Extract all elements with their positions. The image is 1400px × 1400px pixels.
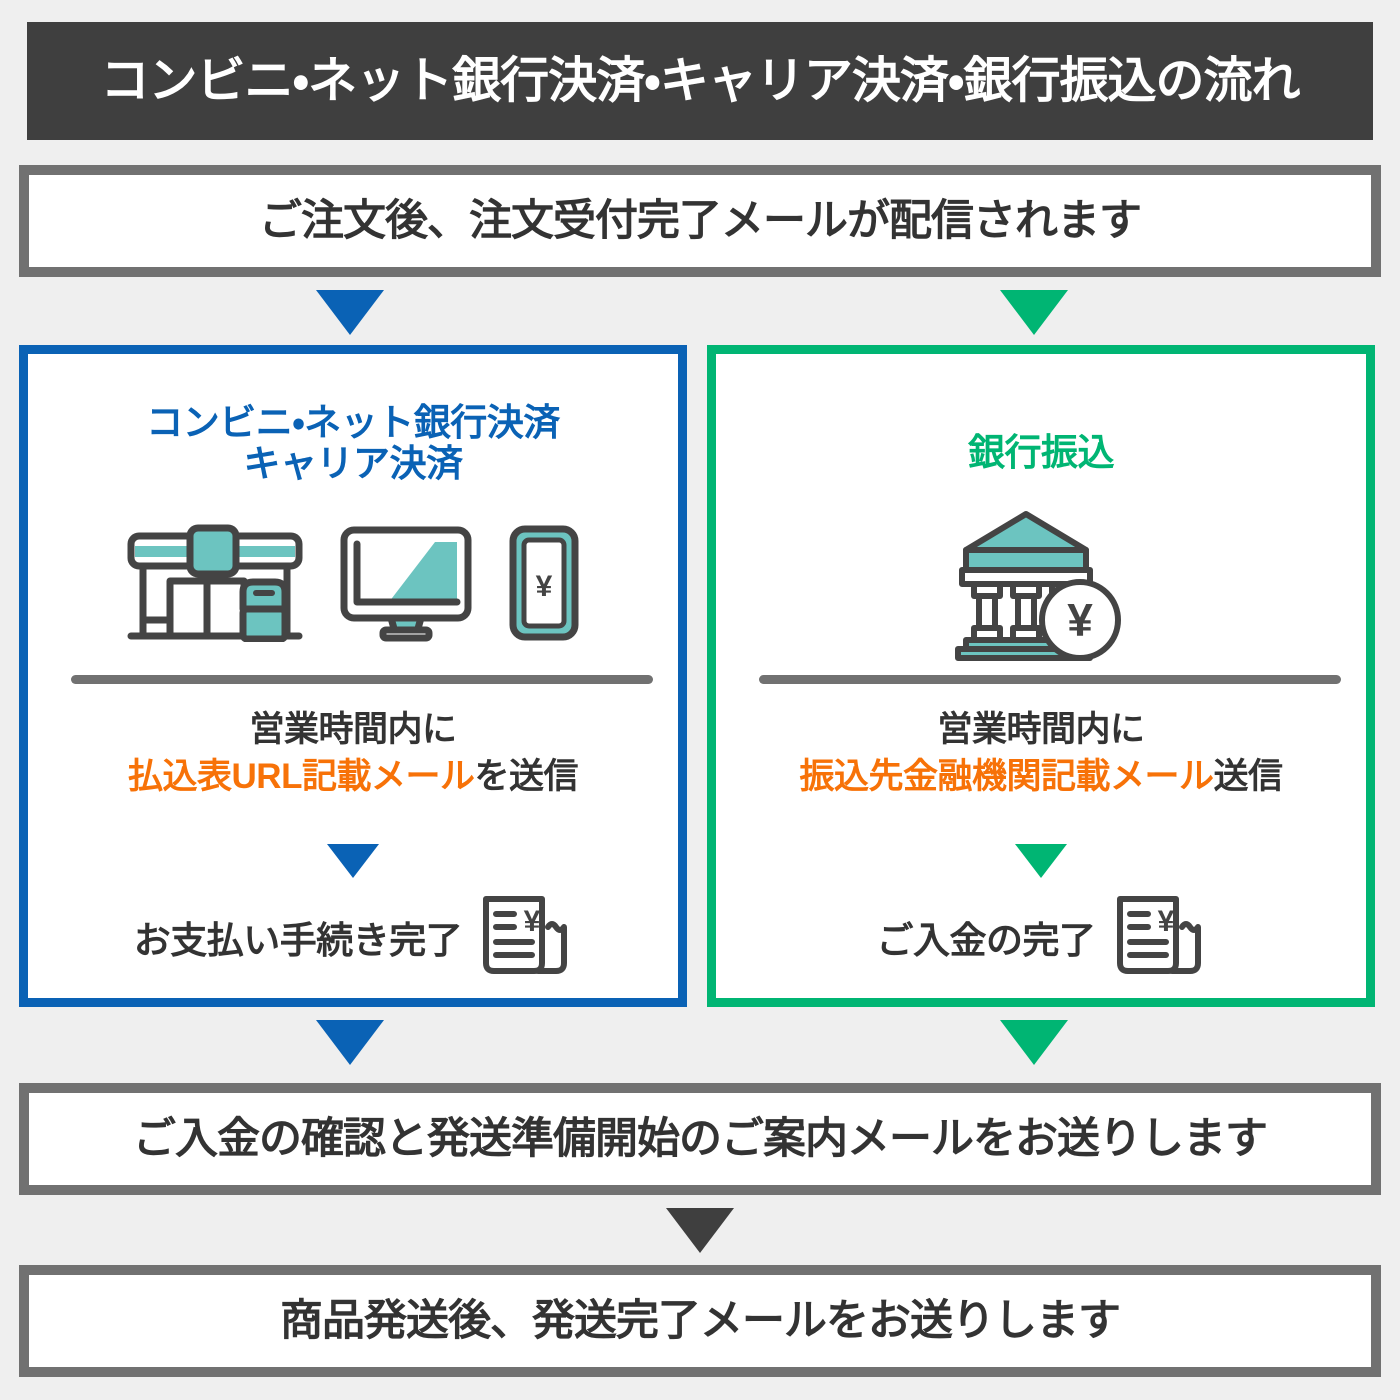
panel-konbini-icon-row: ¥ bbox=[28, 524, 678, 642]
panel-furikomi-title: 銀行振込 bbox=[716, 432, 1366, 473]
panel-konbini-title-line2: キャリア決済 bbox=[244, 443, 463, 484]
down-arrow-icon-to-furikomi bbox=[1000, 290, 1068, 335]
panel-furikomi-caption-highlight: 振込先金融機関記載メール bbox=[799, 757, 1213, 796]
panel-konbini-title: コンビニ・ネット銀行決済 キャリア決済 bbox=[28, 402, 678, 485]
step-box-shipped: 商品発送後、発送完了メールをお送りします bbox=[19, 1265, 1381, 1377]
down-arrow-icon-from-konbini bbox=[316, 1020, 384, 1065]
convenience-store-icon bbox=[125, 524, 305, 642]
bank-yen-icon: ¥ bbox=[952, 506, 1130, 662]
payment-flow-diagram: コンビニ・ネット銀行決済・キャリア決済・銀行振込の流れ ご注文後、注文受付完了メ… bbox=[0, 0, 1400, 1400]
panel-furikomi-caption: 営業時間内に 振込先金融機関記載メール送信 bbox=[716, 706, 1366, 801]
step-shipped-label: 商品発送後、発送完了メールをお送りします bbox=[280, 1300, 1120, 1343]
panel-furikomi-divider bbox=[759, 675, 1341, 684]
panel-furikomi-caption-line1: 営業時間内に bbox=[937, 710, 1144, 749]
panel-konbini-caption-line1: 営業時間内に bbox=[249, 710, 456, 749]
panel-furikomi-final-label: ご入金の完了 bbox=[877, 910, 1096, 964]
svg-text:¥: ¥ bbox=[1157, 905, 1174, 938]
down-arrow-icon-to-konbini bbox=[316, 290, 384, 335]
down-arrow-icon-to-shipped bbox=[666, 1208, 734, 1253]
down-arrow-icon-furikomi-mid bbox=[1015, 844, 1067, 878]
page-title: コンビニ・ネット銀行決済・キャリア決済・銀行振込の流れ bbox=[101, 57, 1300, 106]
step-order-label: ご注文後、注文受付完了メールが配信されます bbox=[259, 200, 1141, 243]
svg-text:¥: ¥ bbox=[1067, 594, 1093, 646]
panel-konbini-net-carrier: コンビニ・ネット銀行決済 キャリア決済 bbox=[19, 345, 687, 1007]
down-arrow-icon-from-furikomi bbox=[1000, 1020, 1068, 1065]
desktop-monitor-icon bbox=[339, 524, 473, 642]
smartphone-yen-icon: ¥ bbox=[507, 524, 581, 642]
panel-furikomi-title-line1: 銀行振込 bbox=[968, 432, 1114, 473]
step-box-order: ご注文後、注文受付完了メールが配信されます bbox=[19, 165, 1381, 277]
step-payment-confirmed-label: ご入金の確認と発送準備開始のご案内メールをお送りします bbox=[133, 1118, 1267, 1161]
panel-konbini-caption: 営業時間内に 払込表URL記載メールを送信 bbox=[28, 706, 678, 801]
panel-konbini-caption-suffix: を送信 bbox=[474, 757, 578, 796]
panel-bank-transfer: 銀行振込 bbox=[707, 345, 1375, 1007]
diagram-title-bar: コンビニ・ネット銀行決済・キャリア決済・銀行振込の流れ bbox=[27, 22, 1373, 140]
panel-konbini-divider bbox=[71, 675, 653, 684]
panel-furikomi-caption-suffix: 送信 bbox=[1214, 757, 1283, 796]
panel-konbini-title-line1: コンビニ・ネット銀行決済 bbox=[146, 402, 560, 443]
panel-furikomi-final-row: ご入金の完了 ¥ bbox=[716, 889, 1366, 985]
down-arrow-icon-konbini-mid bbox=[327, 844, 379, 878]
panel-furikomi-icon-row: ¥ bbox=[716, 502, 1366, 662]
svg-text:¥: ¥ bbox=[524, 905, 541, 938]
svg-text:¥: ¥ bbox=[536, 570, 553, 603]
step-box-payment-confirmed: ご入金の確認と発送準備開始のご案内メールをお送りします bbox=[19, 1083, 1381, 1195]
panel-konbini-caption-highlight: 払込表URL記載メール bbox=[128, 757, 474, 796]
panel-konbini-final-row: お支払い手続き完了 ¥ bbox=[28, 889, 678, 985]
invoice-yen-icon: ¥ bbox=[1110, 889, 1206, 985]
panel-konbini-final-label: お支払い手続き完了 bbox=[134, 910, 463, 964]
invoice-yen-icon: ¥ bbox=[476, 889, 572, 985]
